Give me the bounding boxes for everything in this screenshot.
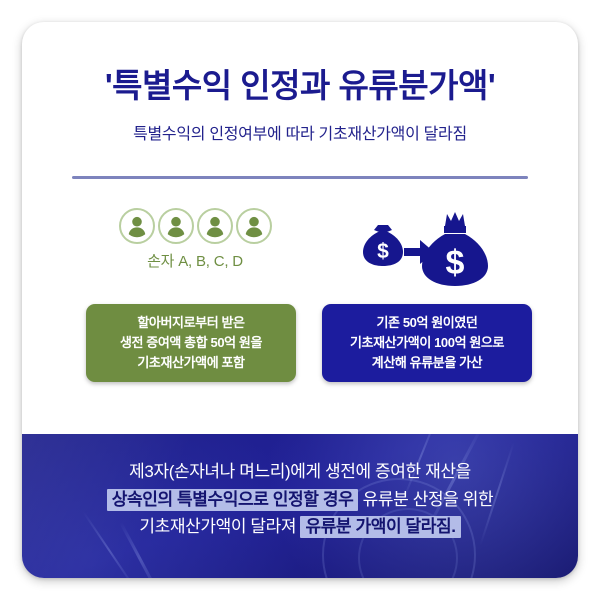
grandchildren-group: 손자 A, B, C, D	[112, 208, 278, 271]
summary-line-1: 제3자(손자녀나 며느리)에게 생전에 증여한 재산을	[22, 458, 578, 486]
callout-box-green: 할아버지로부터 받은 생전 증여액 총합 50억 원을 기초재산가액에 포함	[86, 304, 296, 382]
callout-line: 할아버지로부터 받은	[137, 313, 244, 333]
summary-banner: 제3자(손자녀나 며느리)에게 생전에 증여한 재산을 상속인의 특별수익으로 …	[22, 434, 578, 578]
money-bag-large-icon: $	[422, 212, 488, 286]
svg-text:$: $	[377, 240, 389, 263]
callout-line: 기초재산가액이 100억 원으로	[350, 333, 504, 353]
summary-segment: 제3자(손자녀나 며느리)에게 생전에 증여한 재산을	[129, 462, 471, 481]
page-title: '특별수익 인정과 유류분가액'	[22, 22, 578, 104]
page-subtitle: 특별수익의 인정여부에 따라 기초재산가액이 달라짐	[22, 104, 578, 144]
summary-segment: 유류분 산정을 위한	[358, 490, 493, 509]
summary-line-3: 기초재산가액이 달라져 유류분 가액이 달라짐.	[22, 513, 578, 541]
summary-segment-highlighted: 상속인의 특별수익으로 인정할 경우	[107, 489, 359, 511]
grandchildren-label: 손자 A, B, C, D	[112, 250, 278, 271]
header-divider	[72, 176, 528, 179]
person-silhouette-icon	[236, 208, 272, 244]
person-silhouette-icon	[119, 208, 155, 244]
summary-text: 제3자(손자녀나 며느리)에게 생전에 증여한 재산을 상속인의 특별수익으로 …	[22, 434, 578, 541]
header: '특별수익 인정과 유류분가액' 특별수익의 인정여부에 따라 기초재산가액이 …	[22, 22, 578, 144]
infographic-card: '특별수익 인정과 유류분가액' 특별수익의 인정여부에 따라 기초재산가액이 …	[22, 22, 578, 578]
person-icon-list	[112, 208, 278, 244]
callout-line: 계산해 유류분을 가산	[372, 353, 482, 373]
svg-text:$: $	[446, 244, 465, 282]
callout-line: 기존 50억 원이였던	[376, 313, 477, 333]
callout-box-blue: 기존 50억 원이였던 기초재산가액이 100억 원으로 계산해 유류분을 가산	[322, 304, 532, 382]
summary-segment: 기초재산가액이 달라져	[139, 517, 300, 536]
summary-segment-highlighted: 유류분 가액이 달라짐.	[300, 516, 460, 538]
person-silhouette-icon	[158, 208, 194, 244]
money-bag-small-icon: $	[363, 225, 403, 266]
graphics-row: 손자 A, B, C, D $ $	[22, 208, 578, 300]
person-silhouette-icon	[197, 208, 233, 244]
money-growth-graphic: $ $	[344, 204, 504, 290]
callout-boxes: 할아버지로부터 받은 생전 증여액 총합 50억 원을 기초재산가액에 포함 기…	[22, 304, 578, 384]
callout-line: 기초재산가액에 포함	[137, 353, 244, 373]
summary-line-2: 상속인의 특별수익으로 인정할 경우 유류분 산정을 위한	[22, 486, 578, 514]
callout-line: 생전 증여액 총합 50억 원을	[120, 333, 262, 353]
